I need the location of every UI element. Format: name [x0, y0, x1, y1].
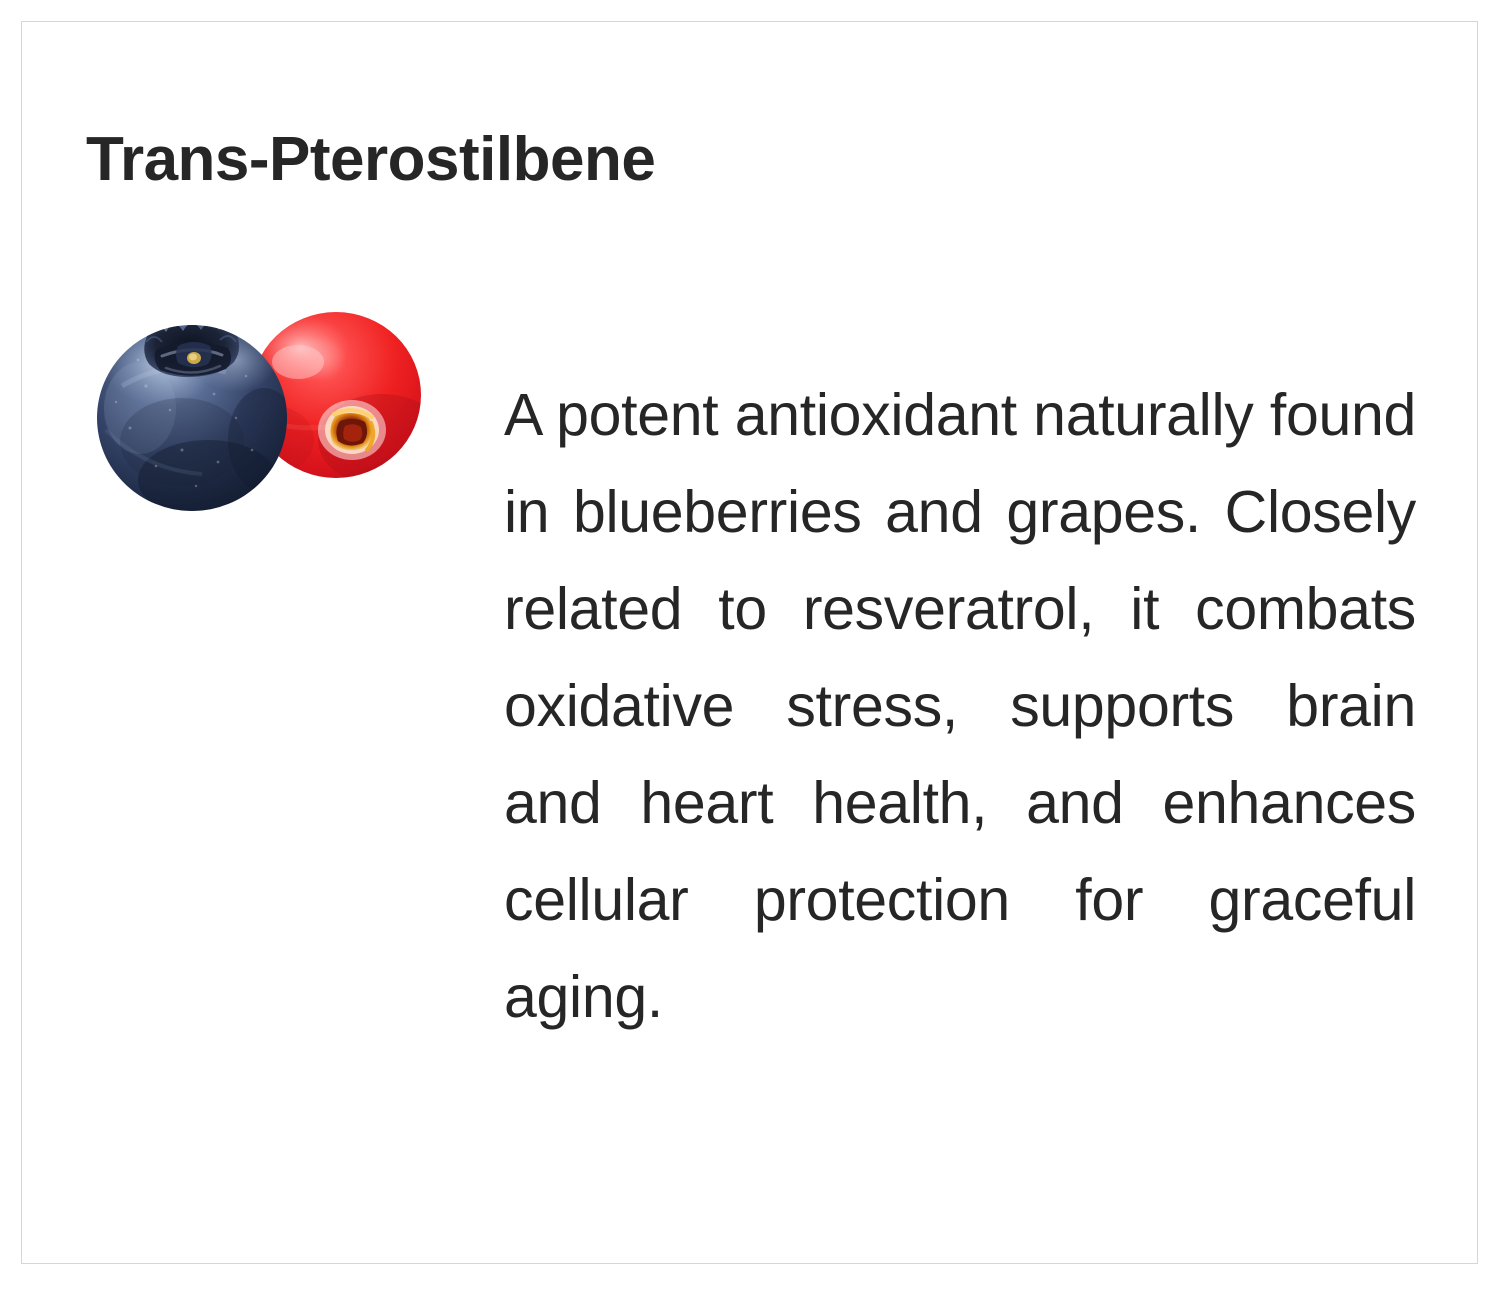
- berry-image: [86, 290, 456, 540]
- cranberry-calyx-scar: [318, 400, 386, 460]
- ingredient-card: Trans-Pterostilbene: [21, 21, 1478, 1264]
- blueberry-cranberry-illustration: [86, 290, 456, 540]
- ingredient-description: A potent antioxidant naturally found in …: [504, 367, 1416, 1143]
- page-title: Trans-Pterostilbene: [86, 126, 655, 194]
- card-content: A potent antioxidant naturally found in …: [86, 290, 1416, 1130]
- blueberry-crown: [144, 323, 239, 377]
- page-root: Trans-Pterostilbene: [0, 0, 1500, 1289]
